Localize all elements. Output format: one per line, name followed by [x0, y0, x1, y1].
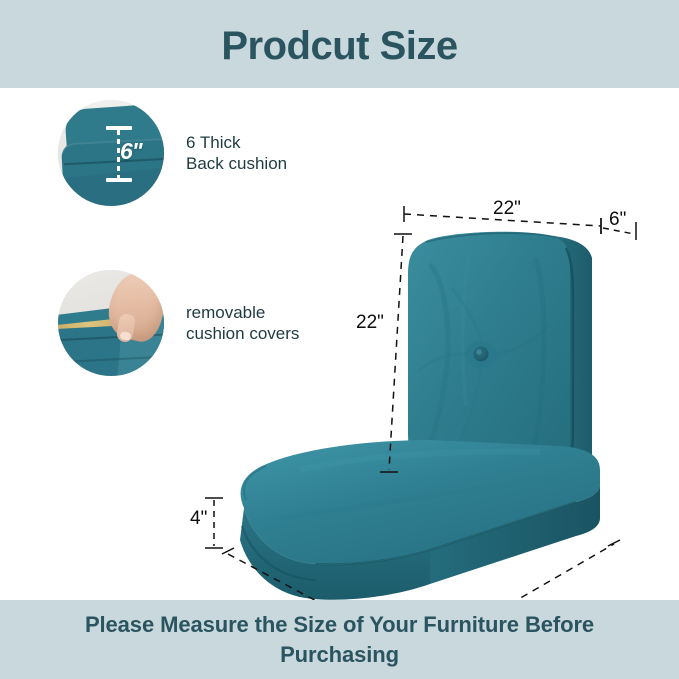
body-area: 22" 6" 22" 4" 22" 24" 6" 6 Thick	[0, 88, 679, 600]
tuft-button	[465, 341, 497, 369]
seat-cushion	[240, 440, 600, 600]
feature-label-removable: removable cushion covers	[186, 302, 299, 345]
feature-label-thickness-line1: 6 Thick	[186, 133, 241, 152]
dimension-label-back-height: 22"	[356, 312, 384, 334]
dimension-back-height	[380, 234, 412, 472]
dimension-seat-thickness	[205, 498, 223, 548]
dimension-seat-width	[416, 540, 620, 600]
back-cushion	[408, 232, 592, 478]
thickness-badge-value: 6"	[120, 138, 142, 165]
cushion-thickness-photo-icon: 6"	[58, 100, 164, 206]
dimension-label-back-width: 22"	[493, 198, 521, 220]
hand-unzipping-cover-photo-icon	[58, 270, 164, 376]
footer-text-line1: Please Measure the Size of Your Furnitur…	[85, 610, 594, 639]
feature-label-thickness: 6 Thick Back cushion	[186, 132, 287, 175]
page-title: Prodcut Size	[221, 26, 457, 66]
infographic-page: Prodcut Size	[0, 0, 679, 679]
feature-callout-removable: removable cushion covers	[58, 270, 299, 376]
dimension-lines	[205, 206, 636, 600]
feature-label-thickness-line2: Back cushion	[186, 153, 287, 174]
footer-text-line2: Purchasing	[280, 640, 399, 669]
feature-label-removable-line1: removable	[186, 303, 265, 322]
feature-callout-thickness: 6" 6 Thick Back cushion	[58, 100, 287, 206]
dimension-label-seat-thickness: 4"	[190, 508, 207, 530]
dimension-seat-depth	[222, 548, 422, 600]
header-band: Prodcut Size	[0, 0, 679, 88]
footer-band: Please Measure the Size of Your Furnitur…	[0, 600, 679, 679]
dimension-label-back-thickness: 6"	[609, 209, 626, 231]
feature-label-removable-line2: cushion covers	[186, 323, 299, 344]
